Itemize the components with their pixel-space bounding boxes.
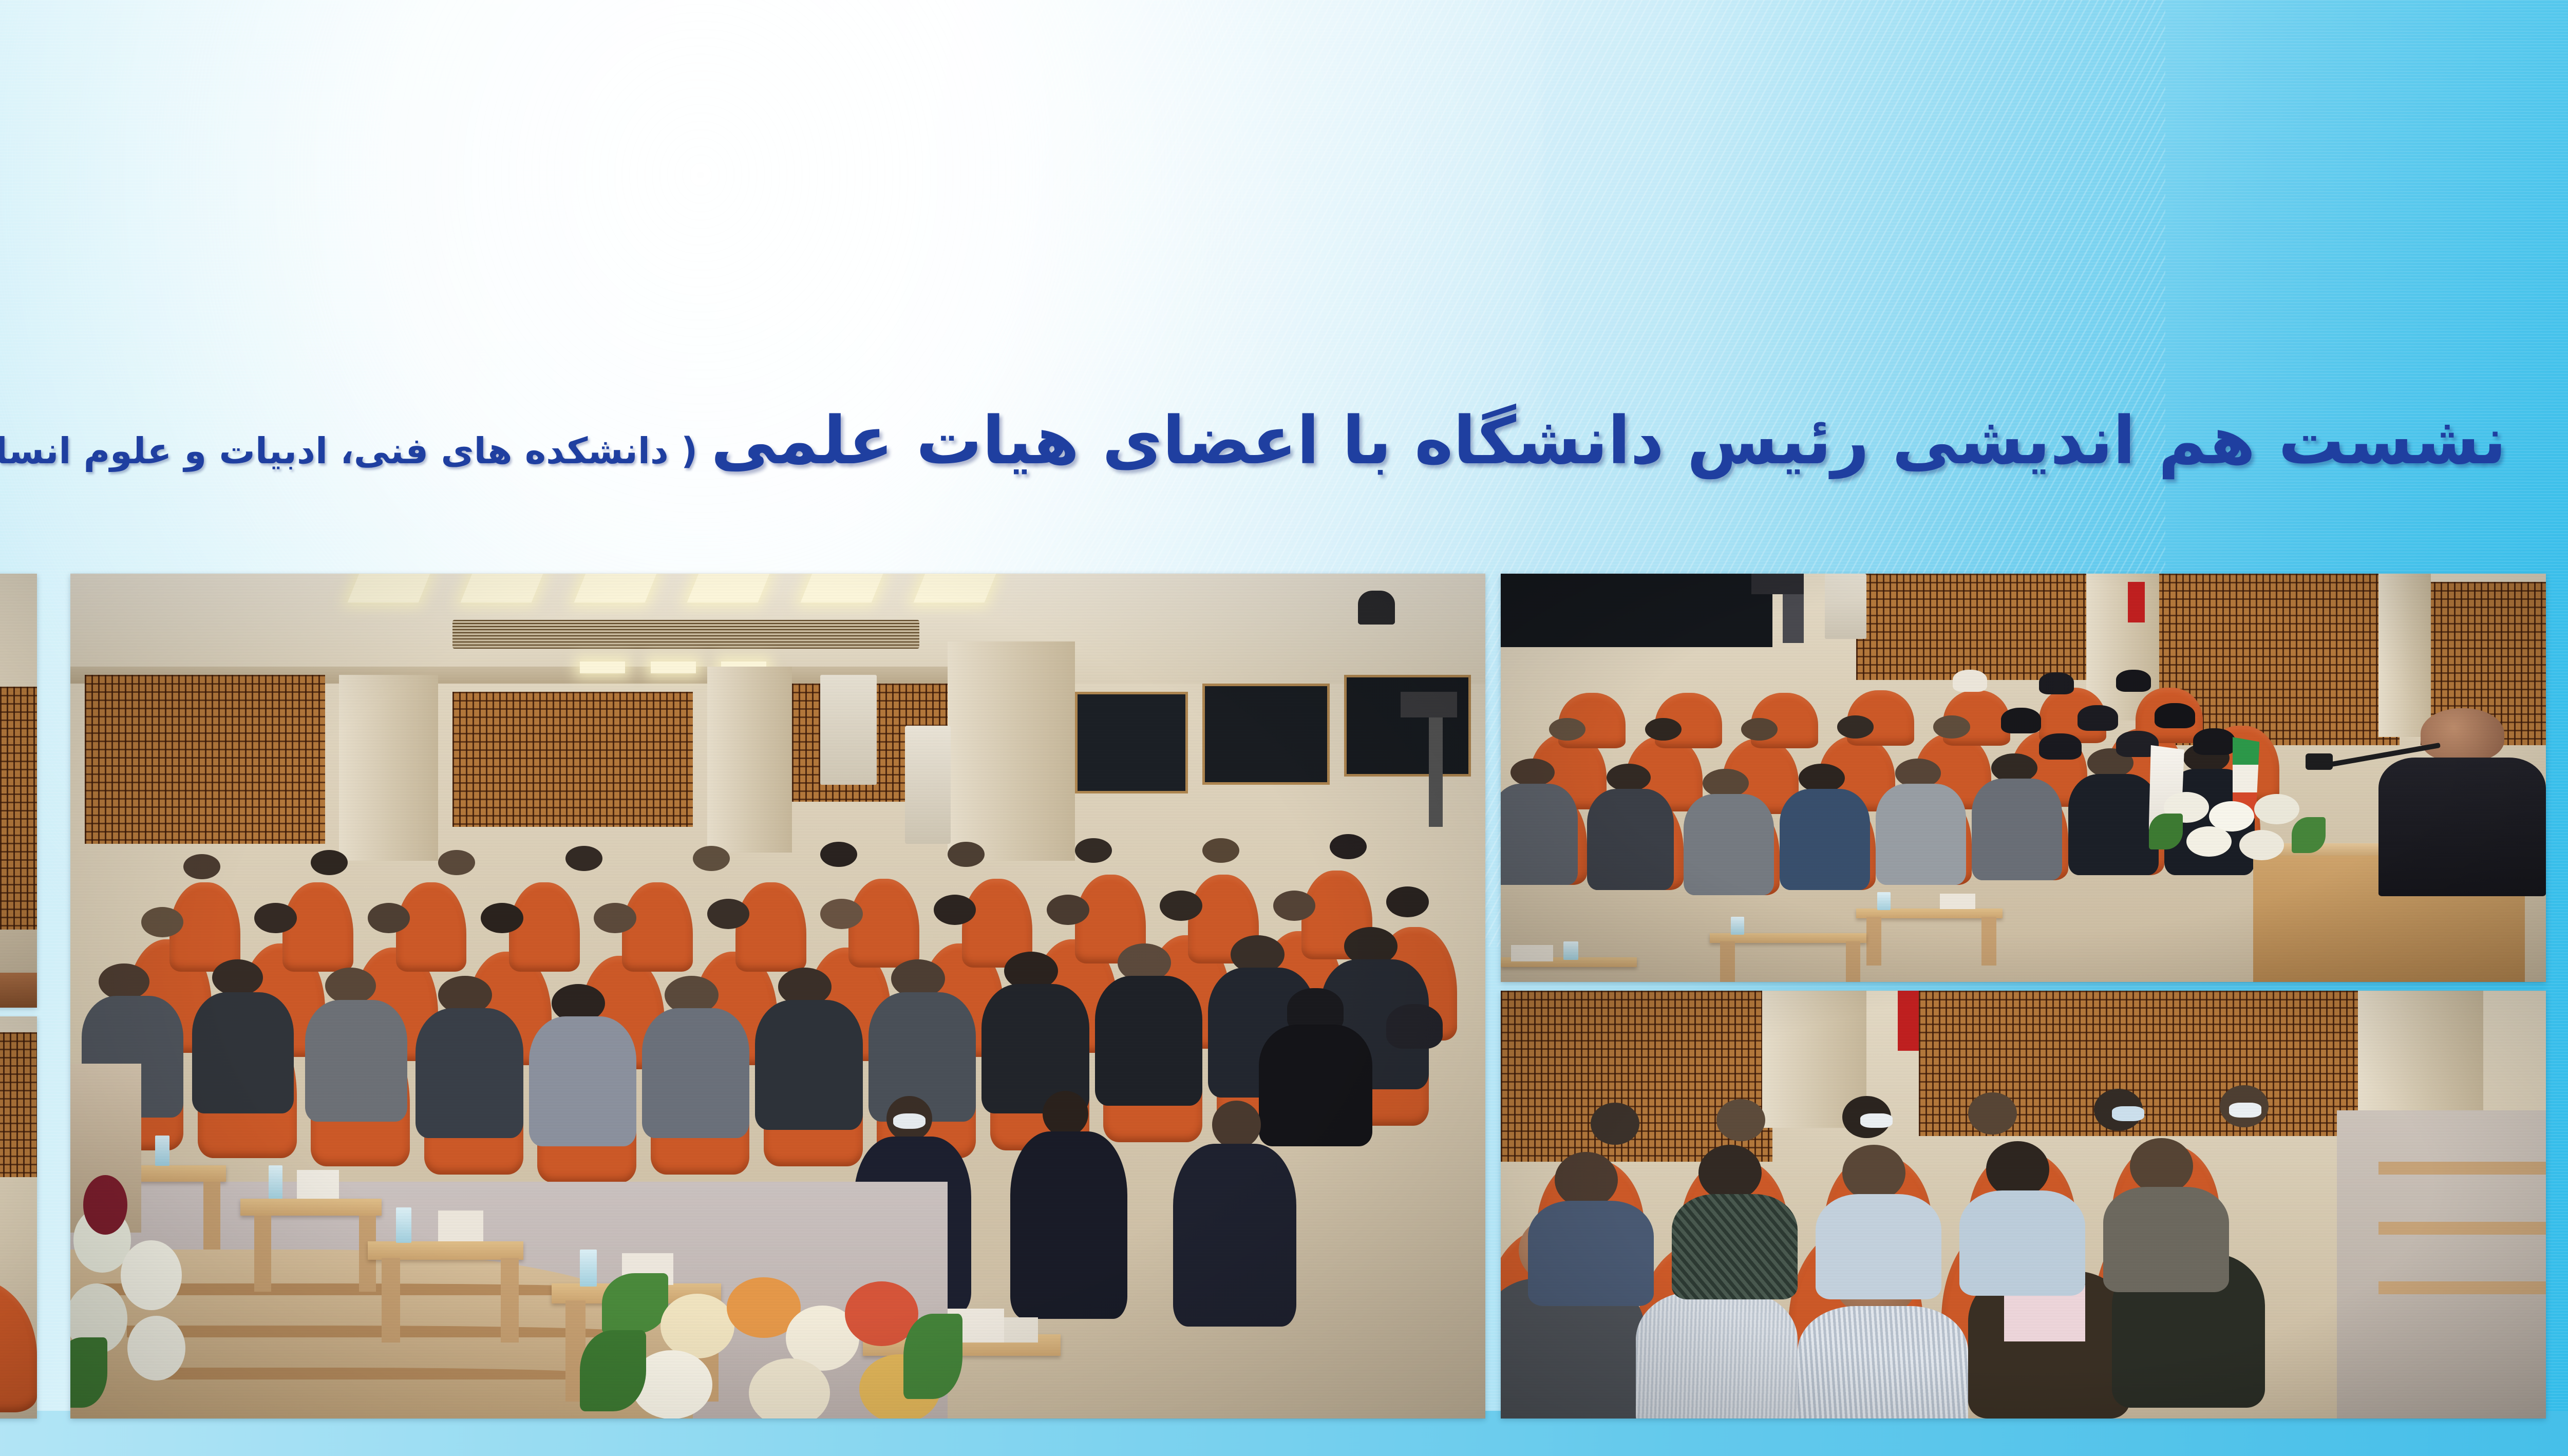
auditorium-wide-photo (70, 574, 1485, 1419)
event-banner: دانشگاه گیلان روابط عمومی دانشگاه گیلان … (0, 0, 2568, 1456)
headline-subtitle: ( دانشکده های فنی، ادبیات و علوم انسانی،… (0, 433, 697, 469)
audience-side-view-photo (0, 1016, 37, 1419)
speaker-and-audience-photo (1501, 574, 2546, 982)
photo-column-center (70, 574, 1485, 1419)
headline-main-title: نشست هم اندیشی رئیس دانشگاه با اعضای هیا… (711, 408, 2506, 474)
banner-headline: نشست هم اندیشی رئیس دانشگاه با اعضای هیا… (0, 408, 2506, 474)
faculty-members-seated-photo (1501, 991, 2546, 1419)
photo-column-right (1501, 574, 2546, 1419)
speaker-at-podium-photo (0, 574, 37, 1008)
photo-column-left (0, 574, 37, 1419)
photo-collage (0, 574, 2546, 1419)
